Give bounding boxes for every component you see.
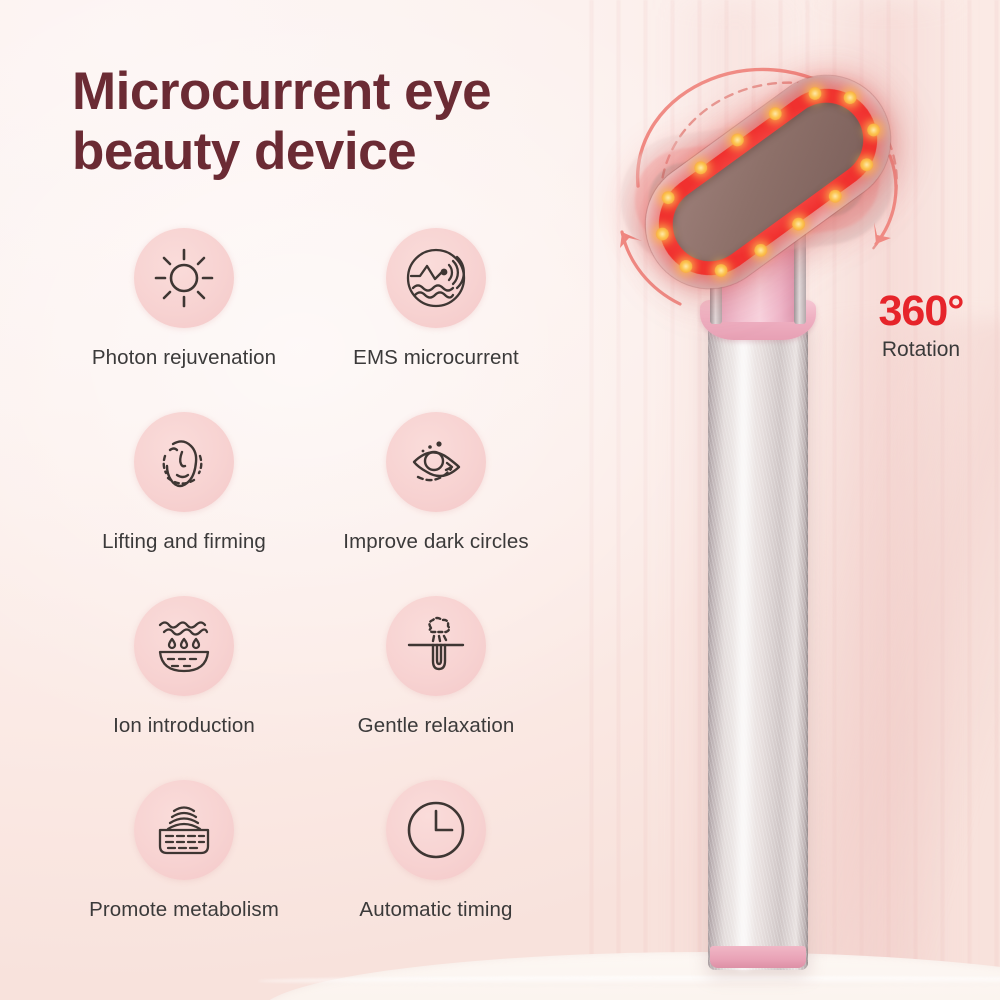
- page-title: Microcurrent eye beauty device: [72, 62, 632, 183]
- ems-wave-icon: [404, 246, 468, 310]
- feature-item-automatic-timing: Automatic timing: [310, 780, 562, 964]
- feature-row: Lifting and firming: [58, 412, 588, 596]
- product-marketing-image: Microcurrent eye beauty device: [0, 0, 1000, 1000]
- rotation-caption: Rotation: [856, 338, 986, 362]
- feature-item-improve-dark-circles: Improve dark circles: [310, 412, 562, 596]
- clock-icon: [404, 798, 468, 862]
- feature-icon-disc: [134, 780, 234, 880]
- feature-icon-disc: [134, 596, 234, 696]
- feature-item-photon-rejuvenation: Photon rejuvenation: [58, 228, 310, 412]
- feature-row: Promote metabolism Automatic timing: [58, 780, 588, 964]
- device-handle: [708, 318, 808, 970]
- feature-icon-disc: [386, 412, 486, 512]
- feature-item-gentle-relaxation: Gentle relaxation: [310, 596, 562, 780]
- feature-icon-disc: [386, 228, 486, 328]
- skin-waves-icon: [151, 800, 217, 860]
- pore-steam-icon: [403, 615, 469, 677]
- feature-label: Improve dark circles: [343, 530, 528, 554]
- face-lifting-icon: [152, 430, 216, 494]
- feature-label: Promote metabolism: [89, 898, 279, 922]
- device-head-group: 360° Rotation: [618, 42, 918, 322]
- feature-label: Automatic timing: [359, 898, 512, 922]
- feature-list: Photon rejuvenation: [58, 228, 588, 964]
- feature-row: Ion introduction Gentle relaxation: [58, 596, 588, 780]
- feature-label: EMS microcurrent: [353, 346, 519, 370]
- rotation-badge: 360° Rotation: [856, 290, 986, 362]
- feature-label: Ion introduction: [113, 714, 255, 738]
- rotation-degrees: 360°: [856, 290, 986, 333]
- handle-highlight: [734, 318, 754, 970]
- feature-icon-disc: [134, 228, 234, 328]
- feature-icon-disc: [386, 780, 486, 880]
- feature-icon-disc: [134, 412, 234, 512]
- feature-label: Lifting and firming: [102, 530, 266, 554]
- page-title-line-2: beauty device: [72, 122, 632, 182]
- ion-droplets-icon: [151, 616, 217, 676]
- feature-item-ems-microcurrent: EMS microcurrent: [310, 228, 562, 412]
- sun-icon: [153, 247, 215, 309]
- product-device: 360° Rotation: [600, 0, 1000, 1000]
- feature-icon-disc: [386, 596, 486, 696]
- feature-item-ion-introduction: Ion introduction: [58, 596, 310, 780]
- feature-label: Gentle relaxation: [358, 714, 515, 738]
- eye-icon: [403, 433, 469, 491]
- page-title-line-1: Microcurrent eye: [72, 62, 632, 122]
- feature-item-promote-metabolism: Promote metabolism: [58, 780, 310, 964]
- feature-item-lifting-and-firming: Lifting and firming: [58, 412, 310, 596]
- feature-row: Photon rejuvenation: [58, 228, 588, 412]
- handle-texture: [708, 318, 808, 970]
- feature-label: Photon rejuvenation: [92, 346, 276, 370]
- handle-base: [710, 946, 806, 968]
